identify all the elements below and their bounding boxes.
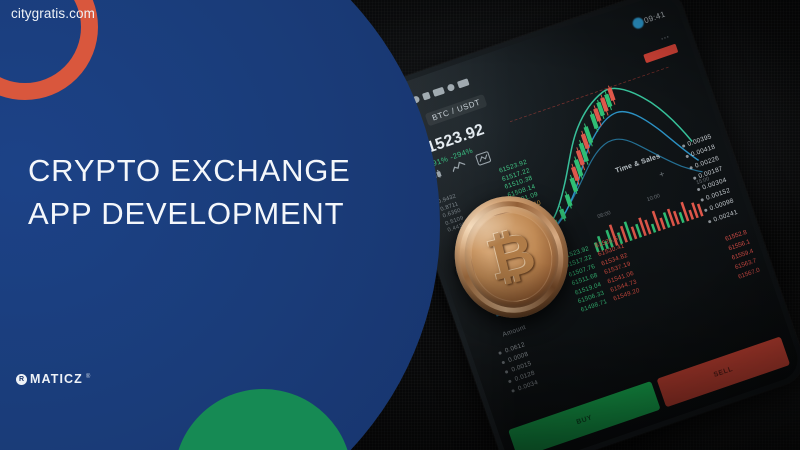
page-title-line-1: CRYPTO EXCHANGE [28,150,388,193]
promo-banner: 09:41 BTC / USDT ⋯ 61523.92 +391% -294% [0,0,800,450]
site-watermark: citygratis.com [11,6,95,21]
maticz-logo[interactable]: MATICZ ® [16,373,90,386]
registered-mark-circle-icon [16,374,27,385]
page-title-line-2: APP DEVELOPMENT [28,193,388,236]
registered-trademark-symbol: ® [86,374,90,380]
logo-wordmark: MATICZ [30,373,83,386]
page-title: CRYPTO EXCHANGE APP DEVELOPMENT [28,150,388,236]
